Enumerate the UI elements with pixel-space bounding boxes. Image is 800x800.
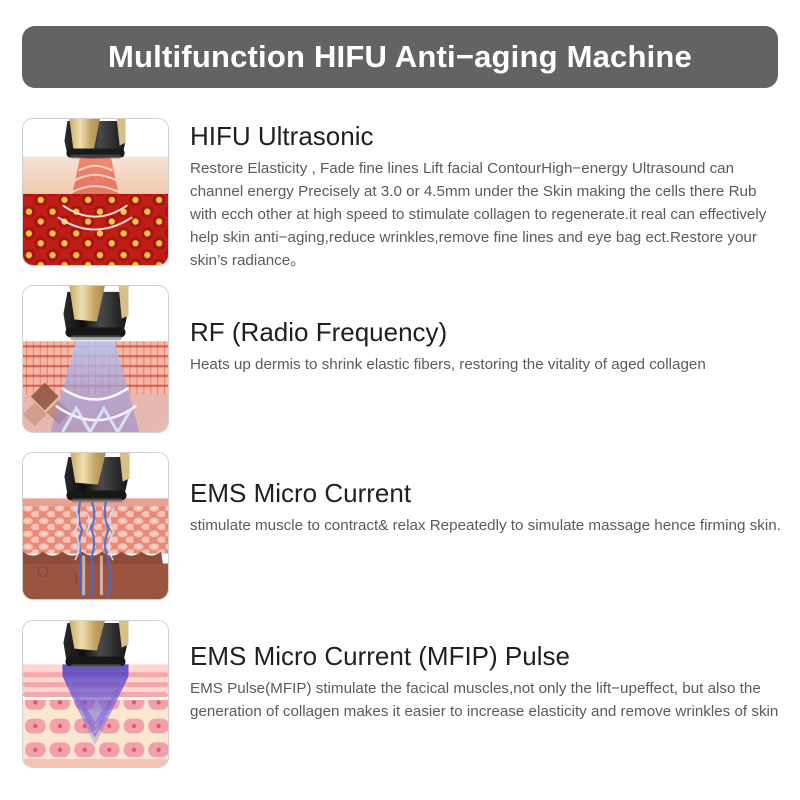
feature-title: EMS Micro Current xyxy=(190,479,782,508)
rf-radio-frequency-skin-diagram xyxy=(22,285,169,433)
feature-body: Heats up dermis to shrink elastic fibers… xyxy=(190,353,782,376)
thumbnail-container xyxy=(0,285,190,433)
ems-illustration xyxy=(23,453,168,599)
hifu-ultrasonic-skin-diagram xyxy=(22,118,169,266)
mfip-pulse-illustration xyxy=(23,621,168,767)
feature-body: EMS Pulse(MFIP) stimulate the facical mu… xyxy=(190,677,782,723)
feature-row-hifu-ultrasonic: HIFU Ultrasonic Restore Elasticity , Fad… xyxy=(0,118,800,273)
rf-illustration xyxy=(23,286,168,432)
thumbnail-container xyxy=(0,620,190,768)
feature-row-ems-micro-current: EMS Micro Current stimulate muscle to co… xyxy=(0,452,800,600)
feature-row-rf-radio-frequency: RF (Radio Frequency) Heats up dermis to … xyxy=(0,285,800,433)
feature-copy: EMS Micro Current stimulate muscle to co… xyxy=(190,452,800,600)
feature-body: Restore Elasticity , Fade fine lines Lif… xyxy=(190,157,782,272)
thumbnail-container xyxy=(0,452,190,600)
hifu-ultrasonic-illustration xyxy=(23,119,168,265)
page-title-banner: Multifunction HIFU Anti−aging Machine xyxy=(22,26,778,88)
feature-title: RF (Radio Frequency) xyxy=(190,318,782,347)
feature-title: HIFU Ultrasonic xyxy=(190,122,782,151)
ems-micro-current-skin-diagram xyxy=(22,452,169,600)
feature-body: stimulate muscle to contract& relax Repe… xyxy=(190,514,782,537)
feature-copy: RF (Radio Frequency) Heats up dermis to … xyxy=(190,285,800,433)
feature-title: EMS Micro Current (MFIP) Pulse xyxy=(190,642,782,671)
feature-copy: EMS Micro Current (MFIP) Pulse EMS Pulse… xyxy=(190,620,800,768)
thumbnail-container xyxy=(0,118,190,273)
feature-copy: HIFU Ultrasonic Restore Elasticity , Fad… xyxy=(190,118,800,273)
page-title: Multifunction HIFU Anti−aging Machine xyxy=(108,39,692,75)
ems-mfip-pulse-skin-diagram xyxy=(22,620,169,768)
product-feature-page: Multifunction HIFU Anti−aging Machine xyxy=(0,0,800,800)
feature-row-ems-mfip-pulse: EMS Micro Current (MFIP) Pulse EMS Pulse… xyxy=(0,620,800,768)
